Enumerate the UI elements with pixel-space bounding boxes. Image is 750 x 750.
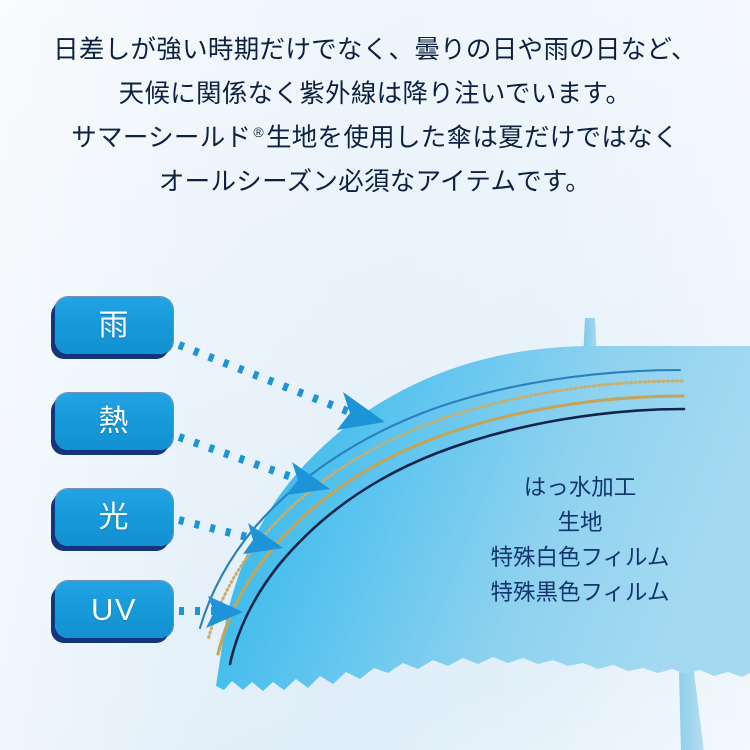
headline-block: 日差しが強い時期だけでなく、曇りの日や雨の日など、 天候に関係なく紫外線は降り注… (0, 28, 750, 204)
layer-legend: はっ水加工 生地 特殊白色フィルム 特殊黒色フィルム (430, 470, 730, 610)
factor-chip-uv-label: UV (91, 594, 137, 625)
headline-line-3: サマーシールド®生地を使用した傘は夏だけではなく (0, 116, 750, 160)
infographic-poster: 日差しが強い時期だけでなく、曇りの日や雨の日など、 天候に関係なく紫外線は降り注… (0, 0, 750, 750)
factor-chip-rain-label: 雨 (99, 311, 130, 341)
headline-line-2: 天候に関係なく紫外線は降り注いでいます。 (0, 72, 750, 116)
registered-trademark-icon: ® (251, 124, 266, 140)
factor-chip-rain[interactable]: 雨 (55, 297, 173, 354)
arrow-rain (179, 345, 385, 430)
legend-line-water-repellent: はっ水加工 (430, 470, 730, 505)
factor-chip-light-label: 光 (99, 503, 130, 533)
umbrella-handle (679, 672, 704, 750)
headline-line-1: 日差しが強い時期だけでなく、曇りの日や雨の日など、 (0, 28, 750, 72)
factor-chip-heat-label: 熱 (99, 407, 130, 437)
headline-line-4: オールシーズン必須なアイテムです。 (0, 160, 750, 204)
legend-line-black-film: 特殊黒色フィルム (430, 575, 730, 610)
factor-chip-light[interactable]: 光 (55, 489, 173, 546)
legend-line-white-film: 特殊白色フィルム (430, 540, 730, 575)
legend-line-fabric: 生地 (430, 505, 730, 540)
brand-name: サマーシールド (71, 124, 251, 152)
factor-chip-uv[interactable]: UV (55, 581, 173, 638)
factor-chip-heat[interactable]: 熱 (55, 393, 173, 450)
brand-line-suffix: 生地を使用した傘は夏だけではなく (266, 124, 679, 152)
